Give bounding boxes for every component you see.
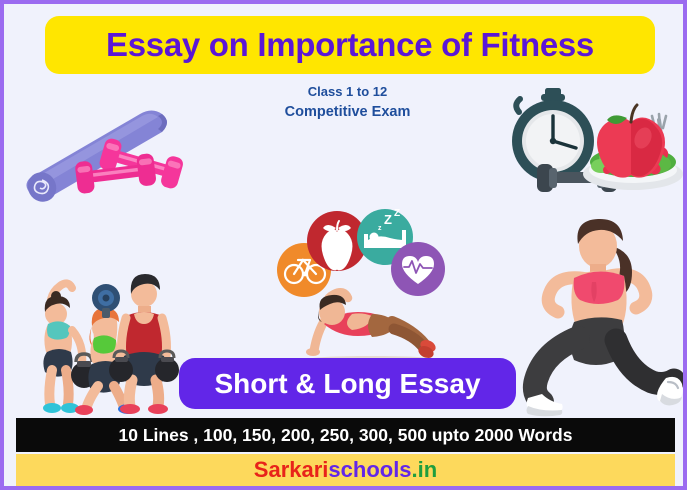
stretching-woman [43, 283, 82, 413]
word-count-bar: 10 Lines , 100, 150, 200, 250, 300, 500 … [16, 418, 675, 452]
site-brand[interactable]: Sarkarischools.in [254, 457, 437, 483]
group-workout-illustration [16, 262, 198, 420]
lifestyle-icons-cluster: Z Z z [276, 202, 446, 292]
footer-bar: Sarkarischools.in [16, 454, 675, 486]
short-long-essay-badge[interactable]: Short & Long Essay [179, 358, 516, 409]
subtitle-block: Class 1 to 12 Competitive Exam [4, 82, 687, 122]
title-banner: Essay on Importance of Fitness [45, 16, 655, 74]
svg-text:z: z [378, 225, 382, 232]
brand-part-3: .in [412, 457, 438, 482]
kettlebell-man [120, 274, 168, 414]
brand-part-1: Sarkari [254, 457, 329, 482]
svg-text:Z: Z [394, 208, 400, 219]
svg-text:Z: Z [384, 212, 392, 227]
subtitle-line-1: Class 1 to 12 [4, 82, 687, 102]
brand-part-2: schools [328, 457, 411, 482]
page-title: Essay on Importance of Fitness [106, 26, 594, 64]
short-long-essay-label: Short & Long Essay [214, 368, 480, 400]
poster-canvas: Z Z z [0, 0, 687, 490]
word-count-text: 10 Lines , 100, 150, 200, 250, 300, 500 … [119, 425, 573, 446]
subtitle-line-2: Competitive Exam [4, 102, 687, 122]
lunging-woman-illustration [516, 218, 684, 416]
shoe-icon [527, 394, 563, 416]
